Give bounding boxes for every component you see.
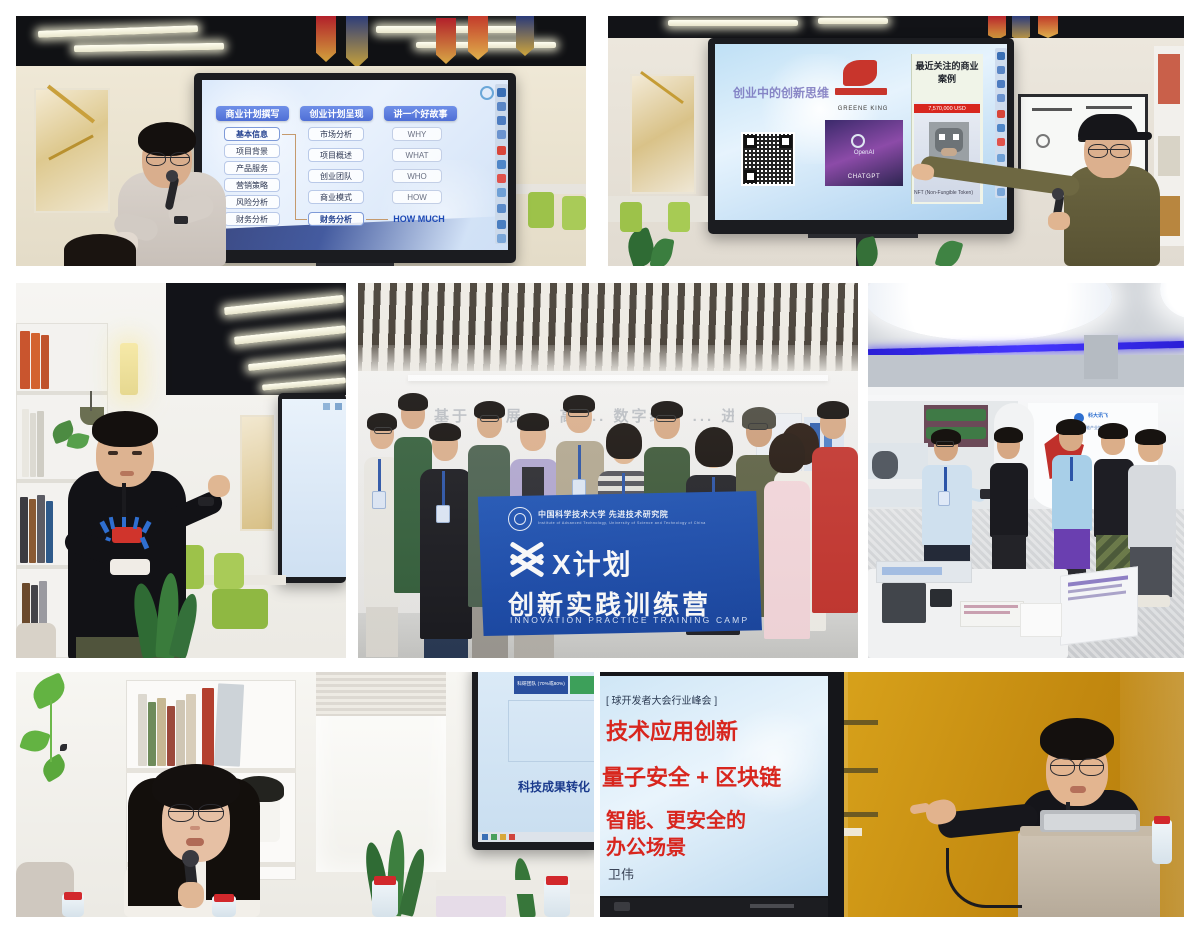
pen-icon[interactable] (997, 124, 1005, 132)
slide-item: 基本信息 (224, 127, 280, 141)
water-bottle (1152, 820, 1172, 864)
save-icon[interactable] (997, 52, 1005, 60)
slide-item: 风险分析 (224, 195, 280, 209)
qr-code[interactable] (741, 132, 795, 186)
slide-item: 市场分析 (308, 127, 364, 141)
speaker (1008, 108, 1168, 266)
slide-speaker: 卫伟 (608, 864, 634, 883)
photo-speaker-black-tshirt[interactable] (16, 283, 346, 658)
slide-col-header: 创业计划呈现 (300, 106, 373, 121)
slide-item: 财务分析 (224, 212, 280, 226)
photo-business-plan-lecture[interactable]: 商业计划撰写 创业计划呈现 讲一个好故事 基本信息 项目背景 产品服务 营销策略… (16, 16, 586, 266)
slide-col-header: 讲一个好故事 (384, 106, 457, 121)
hall-logo-text: 科大讯飞 (1088, 412, 1108, 419)
grid-icon[interactable] (497, 188, 506, 197)
home-icon[interactable] (497, 220, 506, 229)
training-camp-banner: 中国科学技术大学 先进技术研究院 Institute of Advanced T… (472, 491, 762, 636)
brand-label: CHATGPT (825, 174, 903, 180)
slide-item: 商业模式 (308, 190, 364, 204)
slide-item: WHY (392, 127, 442, 141)
pen-icon[interactable] (497, 160, 506, 169)
screen-icon[interactable] (997, 94, 1005, 102)
banner-org: 中国科学技术大学 先进技术研究院 (538, 509, 668, 520)
photo-exhibition-hall-tour[interactable]: 科大讯飞 人工智能产业加速中心 (868, 283, 1184, 658)
settings-icon[interactable] (497, 204, 506, 213)
slide-item: HOW (392, 190, 442, 204)
podium (1018, 832, 1160, 917)
photo-woman-speaker-roundtable[interactable]: 科研团队 (70%或80%) 科技成果转化 (16, 672, 594, 917)
slide-bracket: [ 球开发者大会行业峰会 ] (606, 692, 717, 707)
book-icon[interactable] (497, 116, 506, 125)
banner-subtitle-en: INNOVATION PRACTICE TRAINING CAMP (510, 615, 749, 625)
water-bottle (372, 880, 398, 917)
screen-icon[interactable] (497, 130, 506, 139)
slide-item: WHAT (392, 148, 442, 162)
slide-item: 财务分析 (308, 212, 364, 226)
slide-item: WHO (392, 169, 442, 183)
save-icon[interactable] (497, 88, 506, 97)
slide-line: 智能、更安全的 (606, 804, 746, 833)
banner-title: X计划 (552, 543, 633, 583)
play-icon[interactable] (497, 146, 506, 155)
heart-icon[interactable] (997, 138, 1005, 146)
photo-innovation-thinking-lecture[interactable]: 创业中的创新思维 GREENE KING OpenAI CHATGPT (608, 16, 1184, 266)
slide-title: 创业中的创新思维 (733, 84, 829, 101)
slide-label: 科研团队 (70%或80%) (514, 676, 568, 694)
grid-icon[interactable] (997, 154, 1005, 162)
slide-item: 创业团队 (308, 169, 364, 183)
slide-line: 量子安全 + 区块链 (602, 760, 781, 792)
photo-collage: 商业计划撰写 创业计划呈现 讲一个好故事 基本信息 项目背景 产品服务 营销策略… (0, 0, 1200, 933)
brand-label: OpenAI (825, 150, 903, 156)
slide-item: HOW MUCH (388, 212, 450, 226)
file-icon[interactable] (497, 102, 506, 111)
play-icon[interactable] (997, 110, 1005, 118)
slide-item: 项目概述 (308, 148, 364, 162)
heart-icon[interactable] (497, 174, 506, 183)
slide-item: 项目背景 (224, 144, 280, 158)
slide-nft-caption: NFT (Non-Fungible Token) (914, 190, 980, 196)
slide-price-label: 7,570,000 USD (914, 104, 980, 113)
brand-label: GREENE KING (828, 106, 898, 112)
power-icon[interactable] (497, 234, 506, 243)
photo-podium-speaker-quantum[interactable]: [ 球开发者大会行业峰会 ] 技术应用创新 量子安全 + 区块链 智能、更安全的… (600, 672, 1184, 917)
slide-case-title: 最近关注的商业案例 (913, 60, 981, 86)
power-icon[interactable] (997, 188, 1005, 196)
smartboard-toolbar[interactable] (495, 84, 508, 244)
slide-item: 营销策略 (224, 178, 280, 192)
photo-group-training-camp[interactable]: 基于 ... 展 ... 高 ... 数字经济 ... 进入新 (358, 283, 858, 658)
slide-line: 办公场景 (606, 831, 686, 860)
woman-speaker (102, 764, 282, 917)
book-icon[interactable] (997, 80, 1005, 88)
banner-org-en: Institute of Advanced Technology, Univer… (538, 521, 706, 525)
slide-line: 技术应用创新 (606, 714, 738, 746)
slide-heading: 科技成果转化 (518, 778, 590, 795)
slide-item: 产品服务 (224, 161, 280, 175)
file-icon[interactable] (997, 66, 1005, 74)
slide-col-header: 商业计划撰写 (216, 106, 289, 121)
water-bottle (544, 880, 570, 917)
